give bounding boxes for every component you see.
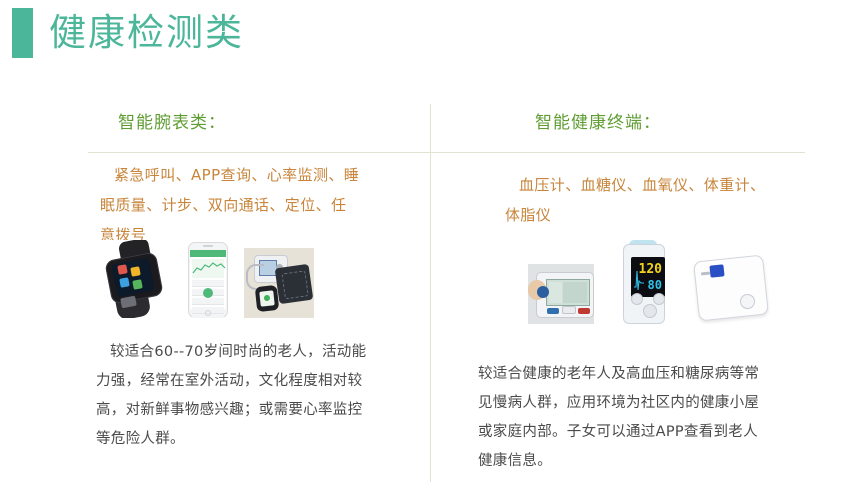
phone-app-topbar [190, 250, 226, 257]
bp-kit-cuff [275, 264, 314, 304]
title-text: 健康检测类 [49, 14, 244, 53]
column-heading-health-terminal: 智能健康终端： [535, 108, 661, 133]
monitor-knob-right [653, 293, 665, 305]
watch-app-icon-1 [117, 264, 128, 275]
column-features-health-terminal: 血压计、血糖仪、血氧仪、体重计、体脂仪 [505, 170, 780, 230]
monitor-knob-center [643, 304, 657, 318]
bp2-lcd-left-pane [549, 282, 562, 303]
bp-kit-wrist-watch [255, 285, 279, 312]
weight-scale-photo [692, 252, 770, 324]
bp2-button-white [562, 306, 576, 314]
column-heading-smartwatch: 智能腕表类： [118, 108, 226, 133]
patient-monitor-photo: 120 80 [620, 240, 666, 324]
watch-app-icon-2 [130, 266, 141, 277]
monitor-diastolic-value: 80 [648, 279, 662, 291]
monitor-systolic-value: 120 [639, 263, 662, 276]
vertical-divider [430, 104, 431, 482]
bp2-button-blue [547, 308, 559, 314]
column-description-health-terminal: 较适合健康的老年人及高血压和糖尿病等常见慢病人群，应用环境为社区内的健康小屋或家… [478, 360, 770, 476]
phone-screen [190, 250, 226, 309]
horizontal-divider [88, 152, 805, 153]
smart-watch-photo [100, 240, 172, 318]
phone-app-list-row [192, 316, 224, 318]
scale-plate [693, 255, 769, 322]
bp2-button-red [578, 308, 590, 314]
bp2-lcd [546, 279, 590, 306]
column-features-smartwatch: 紧急呼叫、APP查询、心率监测、睡眠质量、计步、双向通话、定位、任意拨号 [100, 160, 360, 250]
image-strip-smartwatch [100, 240, 314, 318]
phone-app-fab [203, 288, 213, 298]
image-strip-health-terminal: 120 80 [528, 240, 770, 324]
phone-app-chart [192, 259, 224, 278]
phone-speaker [203, 245, 213, 247]
phone-app-list-row [192, 298, 224, 305]
monitor-control-knobs [631, 293, 665, 315]
bp-kit-cuff-inner [281, 270, 308, 299]
monitor-screen: 120 80 [631, 257, 665, 297]
phone-home-button [205, 310, 211, 316]
bp2-pressing-thumb [537, 286, 549, 298]
watch-app-icon-4 [132, 279, 143, 290]
page-title: 健康检测类 [12, 8, 244, 58]
title-accent-marker [12, 8, 33, 58]
monitor-shell: 120 80 [623, 244, 665, 324]
scale-display [709, 264, 724, 277]
phone-app-list-row [192, 280, 224, 287]
bp-monitor-kit-photo [244, 248, 314, 318]
bp2-lcd-right-pane [563, 282, 587, 303]
monitor-knob-left [631, 293, 643, 305]
watch-app-icon-3 [119, 277, 130, 288]
slide-root: 健康检测类 智能腕表类： 紧急呼叫、APP查询、心率监测、睡眠质量、计步、双向通… [0, 0, 850, 482]
arm-blood-pressure-monitor-photo [528, 264, 594, 324]
smartphone-app-photo [188, 242, 228, 318]
column-description-smartwatch: 较适合60--70岁间时尚的老人，活动能力强，经常在室外活动，文化程度相对较高，… [96, 338, 376, 454]
